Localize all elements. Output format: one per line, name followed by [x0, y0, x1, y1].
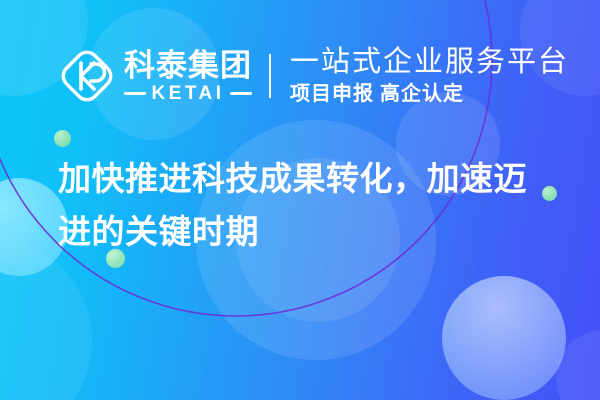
header-divider	[269, 54, 271, 98]
headline-text: 加快推进科技成果转化，加速迈进的关键时期	[58, 152, 558, 259]
decorative-circle-lower-left	[0, 236, 92, 400]
tagline-block: 一站式企业服务平台 项目申报 高企认定	[290, 47, 569, 106]
logo-dash-right	[230, 92, 252, 95]
decorative-circle-bottom-right-edge	[556, 330, 600, 400]
brand-name-cn: 科泰集团	[124, 50, 252, 81]
decorative-circle-bottom-right	[442, 276, 566, 400]
tagline-sub: 项目申报 高企认定	[290, 83, 569, 105]
brand-logo-text: 科泰集团 KETAI	[124, 50, 252, 103]
brand-logo: 科泰集团 KETAI	[58, 47, 252, 105]
brand-name-en-row: KETAI	[124, 84, 252, 103]
ketai-diamond-monogram-icon	[58, 47, 116, 105]
promo-banner: 科泰集团 KETAI 一站式企业服务平台 项目申报 高企认定 加快推进科技成果转…	[0, 0, 600, 400]
logo-dash-left	[124, 92, 146, 95]
banner-header: 科泰集团 KETAI 一站式企业服务平台 项目申报 高企认定	[0, 36, 600, 116]
brand-name-en: KETAI	[146, 84, 229, 103]
decorative-dot-green-left	[54, 130, 71, 147]
tagline-main: 一站式企业服务平台	[290, 47, 569, 78]
